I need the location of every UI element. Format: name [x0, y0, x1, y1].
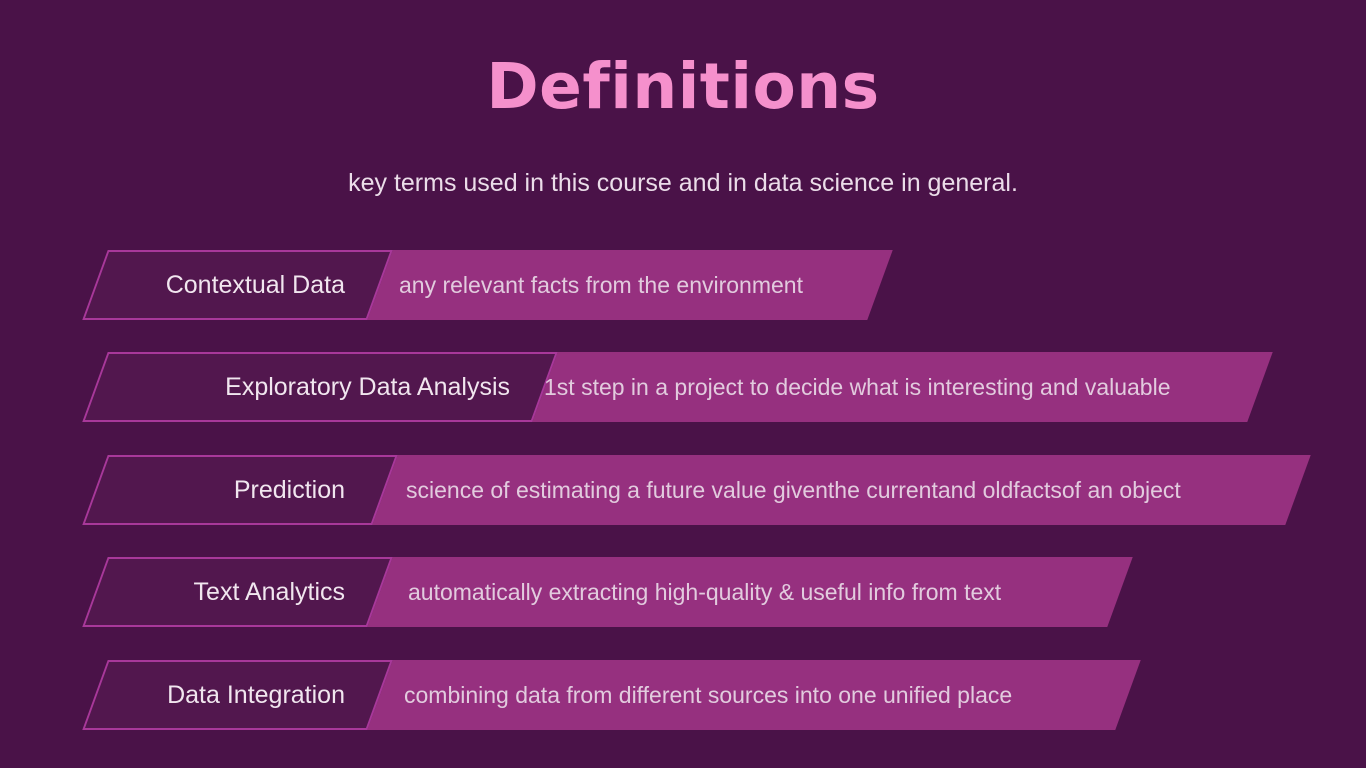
page-subtitle: key terms used in this course and in dat… — [0, 168, 1366, 198]
term-label-panel — [82, 352, 557, 422]
term-label-panel — [82, 250, 392, 320]
term-label-panel — [82, 455, 397, 525]
slide-canvas: Definitions key terms used in this cours… — [0, 0, 1366, 768]
term-label-panel — [82, 557, 392, 627]
term-label-panel — [82, 660, 392, 730]
page-title: Definitions — [0, 54, 1366, 120]
